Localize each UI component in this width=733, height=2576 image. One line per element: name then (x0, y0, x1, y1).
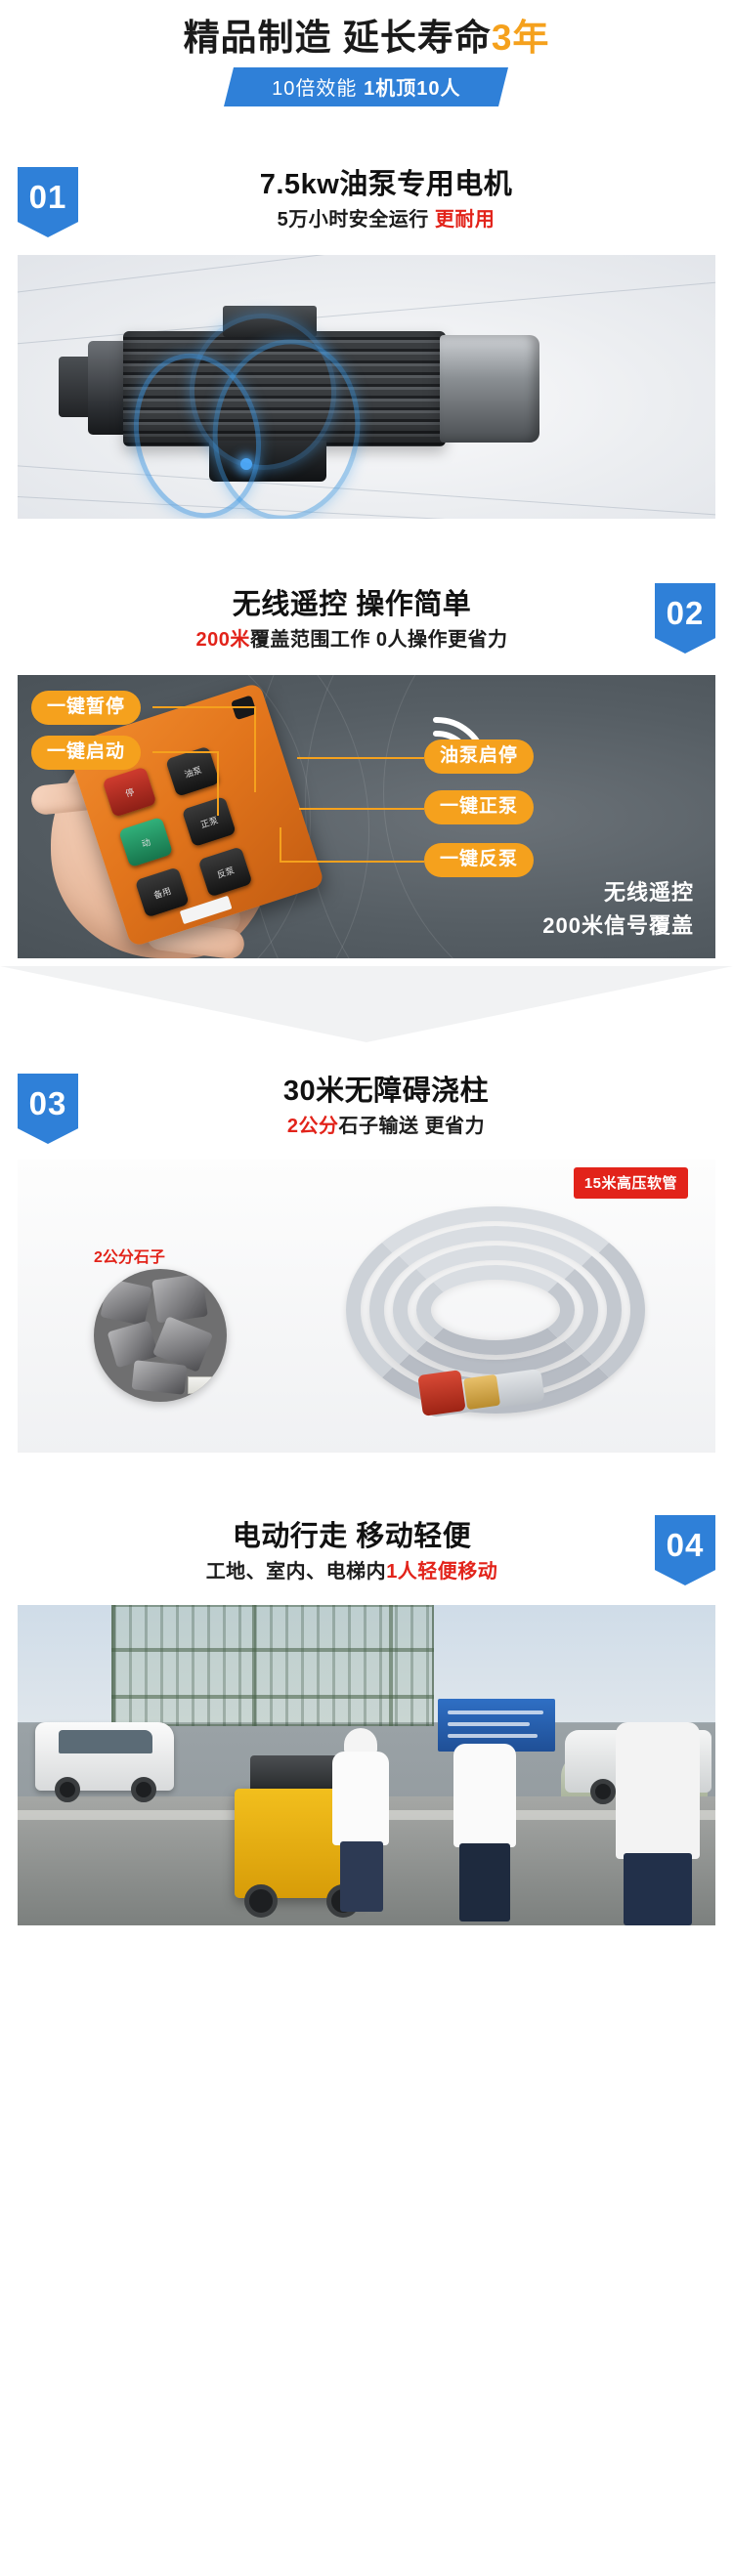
callout-pause: 一键暂停 (31, 691, 141, 725)
section-03-subtitle: 2公分石子输送 更省力 (39, 1111, 733, 1142)
van-wheel (131, 1777, 156, 1802)
sign-text-line (448, 1722, 530, 1726)
section-01-title: 7.5kw油泵专用电机 (39, 165, 733, 204)
callout-pump-onoff: 油泵启停 (424, 739, 534, 774)
callout-leader-line (254, 706, 256, 792)
section-03-titles: 30米无障碍浇柱 2公分石子输送 更省力 (0, 1060, 733, 1142)
van-window (59, 1730, 152, 1753)
remote-control-photo: 停 油泵 动 正泵 备用 反泵 一键暂停 一键启动 油泵启停 (18, 675, 715, 958)
worker-legs (340, 1841, 383, 1912)
header-banner: 10倍效能 1机顶10人 (224, 67, 508, 106)
section-04-titles: 电动行走 移动轻便 工地、室内、电梯内1人轻便移动 (0, 1505, 733, 1587)
hose-coil (321, 1193, 680, 1423)
callout-leader-line (299, 808, 424, 810)
callout-leader-line (280, 861, 424, 863)
feature-section-01: 01 7.5kw油泵专用电机 5万小时安全运行 更耐用 (0, 153, 733, 519)
section-02-titles: 无线遥控 操作简单 200米覆盖范围工作 0人操作更省力 (0, 573, 733, 655)
scaffold-rail (111, 1695, 434, 1699)
remote-button-forward-pump[interactable]: 正泵 (182, 796, 237, 847)
section-02-head: 02 无线遥控 操作简单 200米覆盖范围工作 0人操作更省力 (0, 573, 733, 667)
machine-wheel (244, 1884, 278, 1918)
worker-white-shirt (453, 1744, 516, 1847)
feature-section-02: 02 无线遥控 操作简单 200米覆盖范围工作 0人操作更省力 停 (0, 573, 733, 958)
section-04-head: 04 电动行走 移动轻便 工地、室内、电梯内1人轻便移动 (0, 1505, 733, 1599)
callout-start: 一键启动 (31, 736, 141, 770)
section-01-subtitle-accent: 更耐用 (435, 209, 496, 231)
feature-section-04: 04 电动行走 移动轻便 工地、室内、电梯内1人轻便移动 (0, 1505, 733, 1925)
section-04-subtitle: 工地、室内、电梯内1人轻便移动 (0, 1556, 704, 1587)
section-03-subtitle-plain: 石子输送 更省力 (339, 1116, 486, 1137)
section-02-subtitle-accent: 200米 (195, 629, 249, 651)
scaffold-pole (111, 1605, 115, 1726)
car-wheel (590, 1779, 616, 1804)
callout-forward-pump: 一键正泵 (424, 790, 534, 824)
coil-ring (416, 1265, 575, 1355)
remote-button-reverse-pump[interactable]: 反泵 (197, 846, 252, 897)
section-03-head: 03 30米无障碍浇柱 2公分石子输送 更省力 (0, 1060, 733, 1154)
section-03-subtitle-accent: 2公分 (287, 1116, 339, 1137)
sign-text-line (448, 1710, 543, 1714)
page-header: 精品制造 延长寿命3年 10倍效能 1机顶10人 (0, 0, 733, 106)
product-detail-page: 精品制造 延长寿命3年 10倍效能 1机顶10人 01 7.5kw油泵专用电机 … (0, 0, 733, 2576)
hose-length-tag: 15米高压软管 (574, 1167, 688, 1199)
sign-text-line (448, 1734, 538, 1738)
hose-photo: 15米高压软管 2公分石子 1 2 (18, 1160, 715, 1453)
section-03-title: 30米无障碍浇柱 (39, 1072, 733, 1111)
scaffold-rail (111, 1648, 434, 1652)
section-04-subtitle-accent: 1人轻便移动 (386, 1561, 497, 1583)
chevron-down-icon (0, 966, 733, 1042)
stone (132, 1360, 188, 1394)
section-02-subtitle-plain: 覆盖范围工作 0人操作更省力 (250, 629, 508, 651)
scaffold-pole (389, 1605, 393, 1726)
callout-leader-line (217, 751, 219, 816)
construction-site-photo (18, 1605, 715, 1925)
stone (100, 1279, 151, 1327)
remote-button-pump-start[interactable]: 油泵 (165, 746, 220, 797)
section-divider (0, 966, 733, 1042)
banner-bold-text: 1机顶10人 (364, 72, 460, 101)
safety-helmet (344, 1728, 377, 1753)
remote-caption-line1: 无线遥控 (542, 876, 694, 909)
callout-reverse-pump: 一键反泵 (424, 843, 534, 877)
headline-accent: 3年 (492, 18, 550, 58)
worker-legs (624, 1853, 692, 1925)
stone-size-label: 2公分石子 (94, 1244, 165, 1267)
section-04-subtitle-plain: 工地、室内、电梯内 (206, 1561, 387, 1583)
streak-line (18, 464, 715, 519)
scale-ruler: 1 2 (188, 1376, 227, 1394)
remote-button-start[interactable]: 动 (118, 817, 173, 867)
section-02-title: 无线遥控 操作简单 (0, 585, 704, 624)
callout-leader-line (280, 827, 281, 863)
section-01-head: 01 7.5kw油泵专用电机 5万小时安全运行 更耐用 (0, 153, 733, 247)
hose-coupling-red (417, 1370, 465, 1416)
hose-coupling-brass (463, 1374, 500, 1410)
callout-leader-line (152, 751, 219, 753)
worker-foreground (616, 1722, 700, 1859)
section-01-subtitle: 5万小时安全运行 更耐用 (39, 204, 733, 235)
remote-caption: 无线遥控 200米信号覆盖 (542, 876, 694, 943)
motor-photo (18, 255, 715, 519)
worker-with-helmet (332, 1752, 389, 1845)
motor-end-cap (440, 335, 539, 443)
ruler-mark: 1 (206, 1380, 211, 1390)
headline-main: 精品制造 延长寿命 (184, 18, 492, 58)
worker-legs (459, 1843, 510, 1921)
page-title: 精品制造 延长寿命3年 (0, 14, 733, 63)
remote-button-stop[interactable]: 停 (102, 767, 156, 818)
streak-line (18, 255, 715, 295)
header-banner-wrap: 10倍效能 1机顶10人 (0, 67, 733, 106)
feature-section-03: 03 30米无障碍浇柱 2公分石子输送 更省力 15米高压软管 2公分石子 (0, 1060, 733, 1453)
section-01-subtitle-plain: 5万小时安全运行 (278, 209, 435, 231)
page-bottom-padding (0, 1925, 733, 1955)
section-02-subtitle: 200米覆盖范围工作 0人操作更省力 (0, 624, 704, 655)
callout-leader-line (297, 757, 424, 759)
callout-leader-line (152, 706, 256, 708)
remote-caption-line2: 200米信号覆盖 (542, 909, 694, 943)
stone (108, 1321, 159, 1369)
banner-light-text: 10倍效能 (273, 72, 358, 101)
van-wheel (55, 1777, 80, 1802)
scaffold-pole (252, 1605, 256, 1726)
section-04-title: 电动行走 移动轻便 (0, 1517, 704, 1556)
gravel-sample-photo: 1 2 (94, 1269, 227, 1402)
scaffolded-building (111, 1605, 434, 1726)
section-01-titles: 7.5kw油泵专用电机 5万小时安全运行 更耐用 (0, 153, 733, 235)
stone (151, 1274, 208, 1324)
